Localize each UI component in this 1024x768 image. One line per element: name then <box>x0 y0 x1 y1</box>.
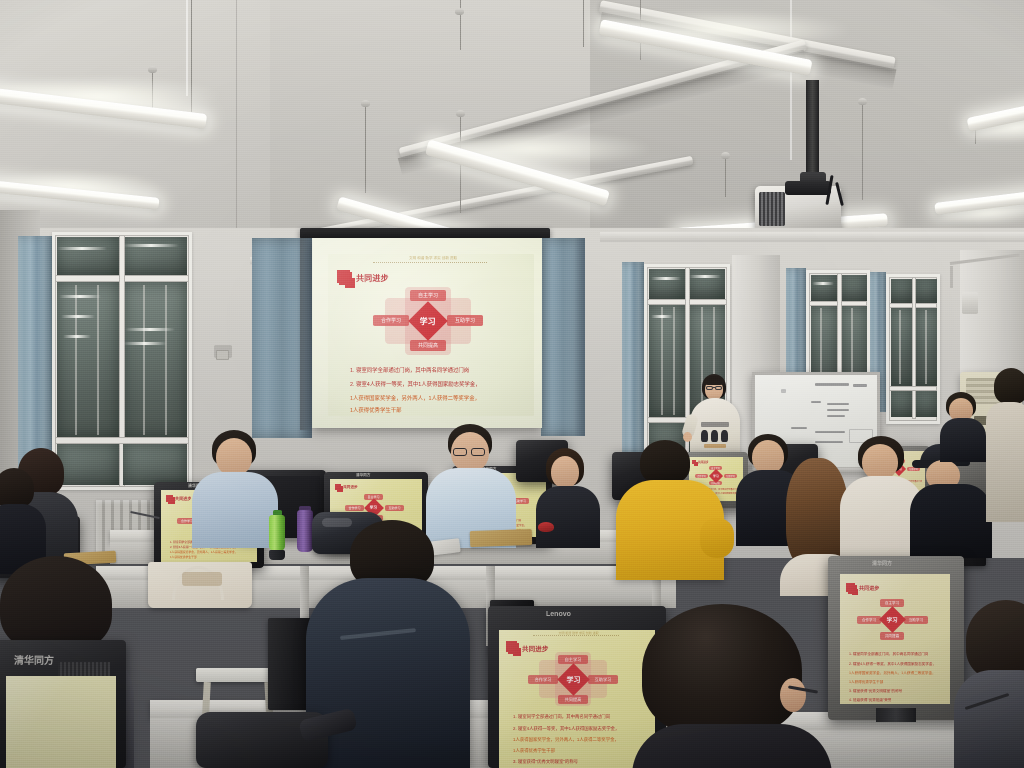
slide-title: 共同进步 <box>522 643 549 653</box>
screen-glare <box>312 238 542 428</box>
slide-bullet: 1. 寝室同学全部通过门岗，其中两名同学通过门岗 <box>513 714 610 720</box>
window-mullion <box>55 437 189 444</box>
window-pane <box>891 308 912 386</box>
student-torso <box>986 402 1024 522</box>
student-glasses-icon <box>471 448 485 456</box>
window-pane <box>123 444 187 485</box>
window-pane <box>649 269 685 299</box>
whiteboard-writing <box>827 403 849 405</box>
instructor-hair-fringe <box>704 376 724 385</box>
slide-bullet: 1人获得优秀学生干部 <box>849 680 883 685</box>
projector-ceiling-mount <box>806 80 819 176</box>
whiteboard-writing <box>781 389 786 393</box>
window-security-bar <box>661 307 663 415</box>
light-hanger-rod <box>725 155 726 197</box>
computer-mouse[interactable] <box>538 522 554 532</box>
window-pane <box>811 275 837 301</box>
monitor-brand-label: 清华同方 <box>872 560 892 567</box>
window-pane <box>891 279 912 303</box>
ceiling-seam <box>236 0 237 230</box>
bottle-body <box>269 515 285 551</box>
window-pane <box>649 305 685 417</box>
instructor-glasses-icon <box>713 387 715 388</box>
student-top <box>910 484 992 558</box>
instructor-shirt-graphic <box>721 430 728 442</box>
window-security-bar <box>165 285 167 435</box>
window-pane <box>57 237 119 275</box>
instructor-glasses-icon <box>715 386 722 390</box>
wall-conduit-pipe <box>950 266 953 288</box>
projector-vent-grille <box>759 192 785 226</box>
window-curtain-left[interactable] <box>18 236 52 482</box>
light-hanger-cap <box>361 100 370 107</box>
student-glasses-icon <box>453 448 467 456</box>
slide-diagram-left: 合作学习 <box>345 505 364 511</box>
slide-diagram-center-label: 学习 <box>887 615 898 623</box>
desk-mat <box>470 529 533 547</box>
window-security-bar <box>97 285 99 435</box>
instructor-shirt-graphic <box>701 422 729 427</box>
slide-bullet: 3. 寝室获得"优秀文明寝室"的称号 <box>513 759 578 765</box>
window-light-reflection <box>123 244 179 247</box>
window-curtain-behind-screen-right[interactable] <box>541 238 585 436</box>
monitor-glare <box>6 676 116 768</box>
student-torso <box>954 670 1024 768</box>
slide-bullet: 1人获得国家奖学金，另外两人，1人获得二等奖学金， <box>849 671 936 676</box>
window-light-reflection <box>63 335 91 338</box>
window-light-reflection <box>123 342 167 345</box>
whiteboard-writing <box>811 401 821 403</box>
slide-diagram-left: 合作学习 <box>857 616 881 624</box>
monitor-stand-neck <box>876 708 916 722</box>
wall-outlet[interactable] <box>216 350 229 360</box>
student-arm <box>700 518 734 558</box>
window-light-reflection <box>651 315 673 318</box>
monitor-foreground-left[interactable]: 清华同方 <box>0 640 126 768</box>
slide-logo-icon <box>335 484 341 490</box>
slide-header-band: 文明 和谐 勤学 求实 创新 进取 <box>533 631 623 635</box>
slide-title: 共同进步 <box>343 485 358 490</box>
window-pane <box>841 275 867 301</box>
slide-diagram-right: 互助学习 <box>385 505 404 511</box>
slide-diagram-right: 互助学习 <box>588 675 618 684</box>
whiteboard-writing <box>853 384 867 387</box>
light-hanger-cap <box>721 152 730 159</box>
student-hair <box>0 468 34 508</box>
student-head <box>216 438 252 476</box>
monitor-slide: 共同进步 自主学习 合作学习 互助学习 共同提高 学习 1. 寝室同学全部通过门… <box>840 574 950 704</box>
window-light-reflection <box>689 275 721 278</box>
slide-bullet: 1人获得优秀学生干部 <box>513 748 555 754</box>
window-pane <box>123 282 187 437</box>
student-torso <box>940 418 986 462</box>
student-shirt <box>192 472 278 548</box>
student-right-upper <box>940 392 984 454</box>
slide-diagram-center-label: 学习 <box>567 675 581 685</box>
screen-edge-shadow <box>300 238 313 430</box>
monitor-screen[interactable]: 共同进步 自主学习 合作学习 互助学习 共同提高 学习 1. 寝室同学全部通过门… <box>840 574 950 704</box>
wall-sensor <box>962 292 978 314</box>
window-security-bar <box>899 310 901 384</box>
student-far-right-foreground <box>960 600 1024 768</box>
window-pane <box>123 237 187 275</box>
slide-bullet: 4. 班级获得"优秀班级"荣誉 <box>849 698 891 703</box>
light-hanger-rod <box>365 103 366 193</box>
student-ear <box>780 678 806 712</box>
wall-ledge <box>600 232 1024 242</box>
monitor-brand-label: 清华同方 <box>356 473 370 478</box>
monitor-foreground-right-slide[interactable]: 清华同方 共同进步 自主学习 合作学习 互助学习 共同提高 学习 1. 寝室同学… <box>828 556 964 720</box>
whiteboard-writing <box>815 431 845 433</box>
light-hanger-rod <box>862 100 863 200</box>
student-hair <box>640 440 690 484</box>
light-hanger-cap <box>858 98 867 105</box>
slide-bullet: 2. 寝室4人获得一等奖，其中1人获得国家励志奖学金， <box>849 662 936 667</box>
window-security-bar <box>673 307 675 415</box>
green-drink-bottle[interactable] <box>268 510 286 560</box>
monitor-brand-label: Lenovo <box>546 611 571 618</box>
whiteboard-writing <box>815 441 843 443</box>
window-curtain-right-a[interactable] <box>622 262 644 454</box>
slide-diagram-left: 合作学习 <box>528 675 558 684</box>
window-light-reflection <box>125 328 175 331</box>
student-jacket <box>306 578 470 768</box>
whiteboard-writing <box>791 427 807 429</box>
student-left-back-2 <box>0 468 50 568</box>
student-hair <box>642 604 802 736</box>
slide-bullet: 2. 寝室4人获得一等奖，其中1人获得国家励志奖学金， <box>513 726 619 732</box>
window-light-reflection <box>57 247 107 250</box>
instructor-glasses-icon <box>706 386 713 390</box>
slide-bullet: 3. 寝室获得"优秀文明寝室"的称号 <box>849 689 902 694</box>
window-light-reflection <box>59 295 101 298</box>
student-head <box>862 444 898 480</box>
light-hanger-rod <box>583 0 584 47</box>
bottle-base <box>269 550 285 560</box>
student-top <box>536 486 600 548</box>
student-hair <box>0 556 112 652</box>
slide-logo-icon <box>506 641 517 652</box>
window-security-bar <box>925 310 927 384</box>
slide-diagram-bottom: 共同提高 <box>558 695 588 704</box>
whiteboard-writing <box>815 383 849 386</box>
projection-screen[interactable]: 文明 和谐 勤学 求实 创新 进取 共同进步 自主学习 合作学习 互助学习 共同… <box>312 238 542 428</box>
window-pane <box>916 391 937 417</box>
window-security-bar <box>143 285 145 435</box>
window-pane <box>916 279 937 303</box>
monitor-vent-grille <box>58 662 110 676</box>
window-security-bar <box>75 285 77 435</box>
student-yellow-shirt <box>616 440 720 576</box>
student-far-right-edge <box>990 368 1024 518</box>
student-hair <box>994 368 1024 404</box>
monitor-brand-label: 清华同方 <box>14 652 54 667</box>
light-hanger-cap <box>455 8 464 15</box>
window-light-reflection <box>61 315 95 318</box>
student-shoulder <box>632 724 832 768</box>
classroom-photo: 文明 和谐 勤学 求实 创新 进取 共同进步 自主学习 合作学习 互助学习 共同… <box>0 0 1024 768</box>
slide-logo-icon <box>166 495 173 502</box>
window-right-c <box>886 274 940 424</box>
window-pane <box>891 391 912 417</box>
tote-print <box>182 572 222 586</box>
slide-title: 共同进步 <box>859 585 879 592</box>
window-pane <box>57 282 119 437</box>
student-head <box>551 456 579 488</box>
light-hanger-cap <box>148 66 157 73</box>
slide-diagram-right: 互助学习 <box>904 616 928 624</box>
student-light-shirt-right <box>842 436 920 558</box>
student-blue-shirt-left <box>196 430 272 540</box>
slide-diagram-center-label: 学习 <box>370 506 377 511</box>
white-tote-bag[interactable] <box>148 552 252 608</box>
ceiling-panel-left <box>0 0 300 250</box>
slide-logo-icon <box>846 583 855 592</box>
student-hair <box>966 600 1024 680</box>
light-hanger-cap <box>456 110 465 117</box>
window-pane <box>689 269 725 299</box>
window-light-reflection <box>651 277 681 280</box>
monitor-screen[interactable] <box>6 676 116 768</box>
slide-title: 共同进步 <box>175 496 191 502</box>
window-light-reflection <box>812 282 834 285</box>
student-foreground-right <box>632 604 822 768</box>
whiteboard-writing <box>827 409 849 411</box>
whiteboard-writing <box>827 415 845 417</box>
slide-bullet: 1. 寝室同学全部通过门岗，其中两名同学通过门岗 <box>849 652 928 657</box>
projector-top-cover <box>785 181 831 195</box>
slide-bullet: 1人获得国家奖学金，另外两人，1人获得二等奖学金， <box>513 737 619 743</box>
